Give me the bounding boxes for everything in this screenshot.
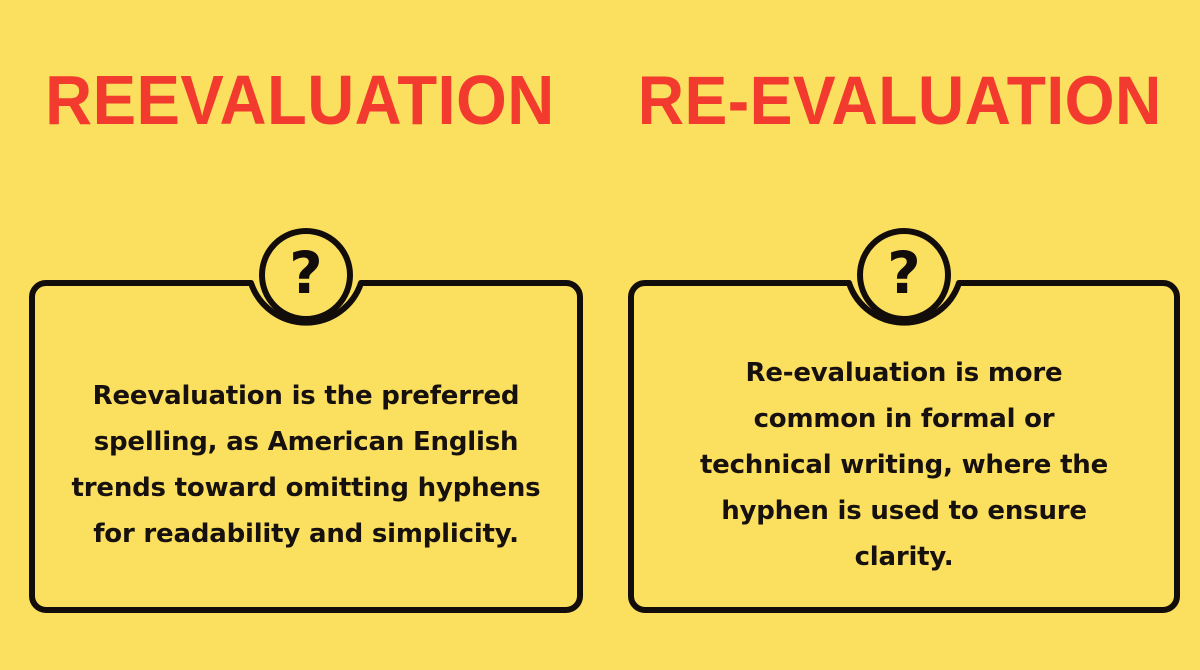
heading-column-right: RE-EVALUATION (600, 0, 1200, 200)
card-text-re-evaluation: Re-evaluation is more common in formal o… (689, 350, 1119, 580)
headings-row: REEVALUATION RE-EVALUATION (0, 0, 1200, 200)
card-body-left: Reevaluation is the preferred spelling, … (29, 280, 583, 613)
card-text-reevaluation: Reevaluation is the preferred spelling, … (56, 373, 556, 557)
heading-re-evaluation: RE-EVALUATION (638, 66, 1162, 135)
card-reevaluation: ? Reevaluation is the preferred spelling… (29, 280, 583, 613)
heading-column-left: REEVALUATION (0, 0, 600, 200)
card-body-right: Re-evaluation is more common in formal o… (628, 280, 1180, 613)
card-re-evaluation: ? Re-evaluation is more common in formal… (628, 280, 1180, 613)
heading-reevaluation: REEVALUATION (45, 65, 555, 135)
cards-row: ? Reevaluation is the preferred spelling… (0, 245, 1200, 670)
comparison-infographic: REEVALUATION RE-EVALUATION ? Reevaluatio… (0, 0, 1200, 670)
